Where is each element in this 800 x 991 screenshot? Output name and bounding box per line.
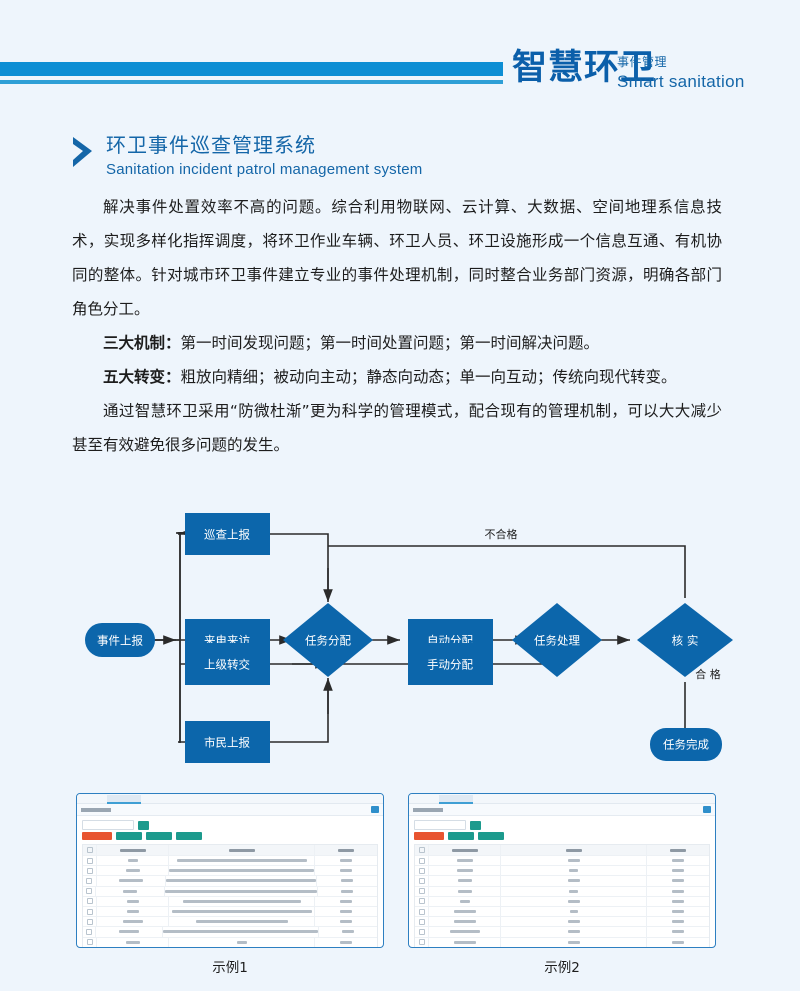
thumb1-action-export <box>176 832 202 840</box>
screenshot-gallery: 示例1 <box>0 793 800 991</box>
thumb1-table-row <box>83 917 377 927</box>
thumb2-search-button <box>470 821 481 830</box>
thumb1-table <box>82 844 378 948</box>
flow-node-manual: 手动分配 <box>408 643 493 685</box>
edge-label-pass: 合 格 <box>695 667 721 681</box>
thumb2-table-row <box>415 938 709 948</box>
thumb1-action-delete <box>82 832 112 840</box>
thumb1-search-input <box>82 820 134 830</box>
chevron-right-icon <box>70 133 96 173</box>
thumb1-th-col1 <box>97 845 169 855</box>
paragraph-1: 解决事件处置效率不高的问题。综合利用物联网、云计算、大数据、空间地理系信息技术，… <box>72 190 722 326</box>
thumb2-table <box>414 844 710 948</box>
flow-node-handle-label: 任务处理 <box>534 634 580 648</box>
screenshot-caption-2: 示例2 <box>408 956 716 976</box>
paragraph-4: 通过智慧环卫采用“防微杜渐”更为科学的管理模式，配合现有的管理机制，可以大大减少… <box>72 394 722 462</box>
thumb2-th-check <box>415 845 429 855</box>
page-title: 环卫事件巡查管理系统 <box>106 133 422 158</box>
flow-node-verify-label: 核 实 <box>672 634 699 648</box>
thumb2-browser-bar <box>409 794 715 804</box>
flow-node-dispatch: 任务分配 <box>283 603 373 677</box>
thumb1-th-check <box>83 845 97 855</box>
screenshot-thumbnail-1[interactable] <box>76 793 384 948</box>
thumb2-app-title-blur <box>413 808 443 812</box>
body-copy: 解决事件处置效率不高的问题。综合利用物联网、云计算、大数据、空间地理系信息技术，… <box>72 190 722 462</box>
paragraph-3: 五大转变：粗放向精细；被动向主动；静态向动态；单一向互动；传统向现代转变。 <box>72 360 722 394</box>
brand-subtitle-cn: 事件管理 <box>617 56 745 70</box>
paragraph-2: 三大机制：第一时间发现问题；第一时间处置问题；第一时间解决问题。 <box>72 326 722 360</box>
thumb1-table-row <box>83 938 377 948</box>
thumb2-table-row <box>415 897 709 907</box>
thumb2-action-row <box>409 832 715 844</box>
page-header: 智慧环卫 事件管理 Smart sanitation <box>0 0 800 112</box>
thumb2-table-row <box>415 907 709 917</box>
thumb1-th-col2 <box>169 845 315 855</box>
flow-node-handle: 任务处理 <box>512 603 602 677</box>
thumb1-table-header-row <box>83 845 377 856</box>
thumb1-th-col3-text <box>338 849 354 852</box>
thumb2-header-checkbox <box>419 847 425 853</box>
thumb1-browser-bar <box>77 794 383 804</box>
thumb2-action-edit <box>478 832 504 840</box>
thumb1-filter-row <box>77 816 383 832</box>
flow-node-patrol-label: 巡查上报 <box>204 528 250 542</box>
thumb2-search-input <box>414 820 466 830</box>
thumb1-th-col3 <box>315 845 377 855</box>
thumb1-table-row <box>83 866 377 876</box>
thumb1-action-edit <box>146 832 172 840</box>
thumb1-table-row <box>83 856 377 866</box>
edge-label-fail: 不合格 <box>485 527 518 541</box>
thumb2-table-row <box>415 917 709 927</box>
brand-subtitle-en: Smart sanitation <box>617 72 745 92</box>
header-accent-bar-thick <box>0 62 503 76</box>
thumb2-table-row <box>415 887 709 897</box>
flow-node-superior: 上级转交 <box>185 643 270 685</box>
thumb1-header-button <box>371 806 379 813</box>
thumb2-row-checkbox <box>419 858 425 864</box>
thumb2-browser-tab <box>439 795 473 804</box>
thumb2-table-row <box>415 927 709 937</box>
section-heading: 环卫事件巡查管理系统 Sanitation incident patrol ma… <box>70 133 422 180</box>
thumb1-header-checkbox <box>87 847 93 853</box>
thumb1-app-title-blur <box>81 808 111 812</box>
flow-node-verify: 核 实 <box>637 603 733 677</box>
flow-node-start: 事件上报 <box>85 623 155 657</box>
screenshot-caption-1: 示例1 <box>76 956 384 976</box>
thumb1-th-col2-text <box>229 849 255 852</box>
thumb2-app-header <box>409 804 715 816</box>
thumb2-action-add <box>448 832 474 840</box>
paragraph-2-label: 三大机制： <box>103 334 181 352</box>
flow-node-citizen: 市民上报 <box>185 721 270 763</box>
thumb2-filter-row <box>409 816 715 832</box>
thumb2-table-row <box>415 856 709 866</box>
thumb1-table-row <box>83 927 377 937</box>
thumb2-th-col2 <box>501 845 647 855</box>
flow-node-done: 任务完成 <box>650 728 722 761</box>
edge-verify-fail-to-dispatch <box>328 546 685 598</box>
thumb1-action-row <box>77 832 383 844</box>
header-accent-bar-thin <box>0 80 503 84</box>
flow-node-patrol: 巡查上报 <box>185 513 270 555</box>
flow-node-dispatch-label: 任务分配 <box>305 634 351 648</box>
process-flowchart: 事件上报 巡查上报 来电来访 上级转交 市民上报 任务分配 自动 <box>60 508 800 780</box>
thumb1-table-row <box>83 897 377 907</box>
thumb1-action-add <box>116 832 142 840</box>
page-subtitle: Sanitation incident patrol management sy… <box>106 160 422 180</box>
brand-subtitle-group: 事件管理 Smart sanitation <box>617 56 745 91</box>
flow-node-start-label: 事件上报 <box>97 634 143 648</box>
thumb1-search-button <box>138 821 149 830</box>
paragraph-2-text: 第一时间发现问题；第一时间处置问题；第一时间解决问题。 <box>181 334 600 352</box>
thumb1-table-row <box>83 876 377 886</box>
paragraph-3-label: 五大转变： <box>103 368 181 386</box>
thumb2-action-delete <box>414 832 444 840</box>
paragraph-3-text: 粗放向精细；被动向主动；静态向动态；单一向互动；传统向现代转变。 <box>181 368 677 386</box>
thumb1-table-row <box>83 887 377 897</box>
thumb2-th-col1 <box>429 845 501 855</box>
flow-node-citizen-label: 市民上报 <box>204 736 250 750</box>
thumb1-app-header <box>77 804 383 816</box>
thumb2-table-row <box>415 876 709 886</box>
thumb2-th-col3 <box>647 845 709 855</box>
thumb1-table-row <box>83 907 377 917</box>
screenshot-thumbnail-2[interactable] <box>408 793 716 948</box>
flow-node-manual-label: 手动分配 <box>427 658 473 672</box>
flow-node-superior-label: 上级转交 <box>204 658 250 672</box>
thumb2-table-row <box>415 866 709 876</box>
flow-node-done-label: 任务完成 <box>663 738 709 752</box>
thumb1-row-checkbox <box>87 858 93 864</box>
thumb2-header-button <box>703 806 711 813</box>
thumb1-th-col1-text <box>120 849 146 852</box>
thumb2-table-header-row <box>415 845 709 856</box>
thumb1-browser-tab <box>107 795 141 804</box>
